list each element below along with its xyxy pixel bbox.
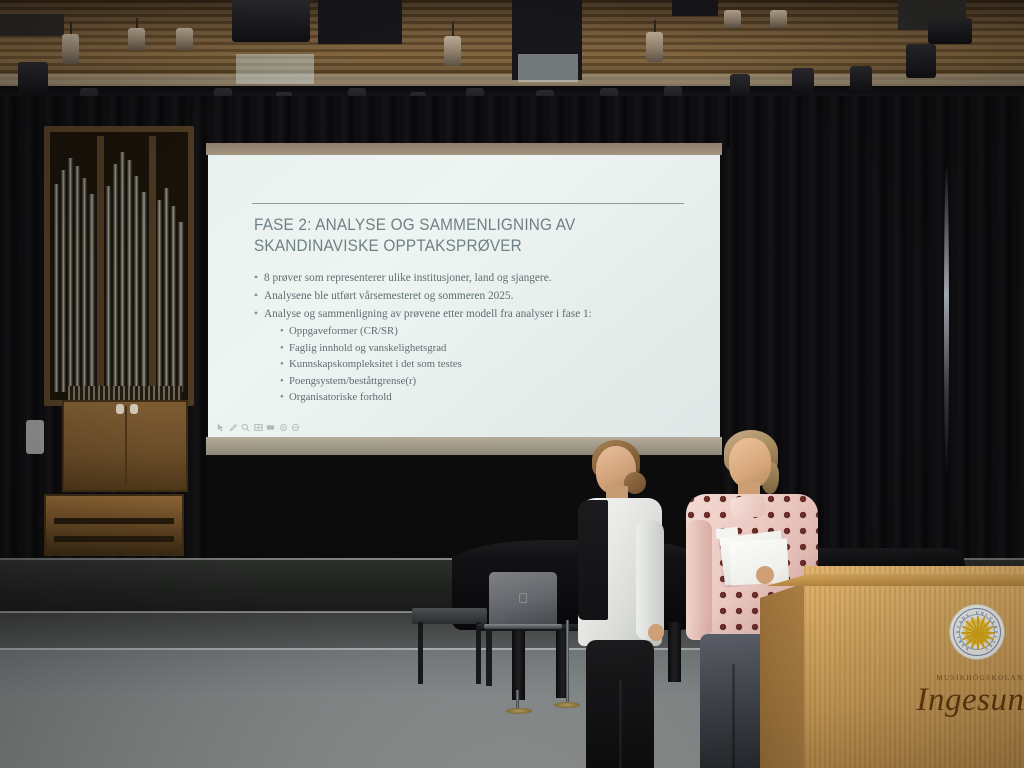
organ-lamp — [130, 404, 138, 414]
piano-leg — [512, 626, 525, 700]
projected-slide: FASE 2: ANALYSE OG SAMMENLIGNING AV SKAN… — [208, 155, 720, 437]
bullet-marker: • — [280, 356, 289, 372]
sub-bullet-text: Oppgaveformer (CR/SR) — [289, 325, 398, 337]
hand — [648, 624, 664, 641]
arm — [686, 520, 712, 638]
ceiling-acoustic-panel — [0, 14, 64, 36]
bullet-text: Analyse og sammenligning av prøvene ette… — [264, 308, 592, 320]
end-show-icon[interactable] — [291, 423, 300, 432]
bullet-text: Analysene ble utført vårsemesteret og so… — [264, 290, 513, 302]
bullet-marker: • — [254, 270, 264, 288]
arm — [636, 520, 664, 640]
more-options-icon[interactable] — [279, 423, 288, 432]
organ-pipe-area — [50, 132, 188, 400]
stage-light — [724, 10, 741, 28]
seal-text-char: T — [955, 625, 960, 629]
organ-bench — [44, 494, 184, 556]
ceiling-acoustic-panel — [672, 0, 718, 16]
seal-text-char — [970, 611, 972, 616]
slide-title: FASE 2: ANALYSE OG SAMMENLIGNING AV SKAN… — [254, 215, 645, 257]
stage-light — [176, 28, 193, 50]
bullet-marker: • — [254, 306, 264, 324]
slide-title-line-1: FASE 2: ANALYSE OG SAMMENLIGNING AV — [254, 215, 645, 236]
pipe-organ — [44, 126, 194, 406]
neck-bow — [730, 494, 767, 521]
ceiling-light-panel — [518, 54, 578, 82]
truss-light — [18, 62, 48, 96]
slide-body: •8 prøver som representerer ulike instit… — [254, 270, 684, 405]
pen-icon[interactable] — [229, 423, 238, 432]
slide-sub-bullet: •Faglig innhold og vanskelighetsgrad — [280, 340, 684, 356]
truss-light — [850, 66, 872, 92]
slide-bullet: •8 prøver som representerer ulike instit… — [254, 270, 684, 288]
pointer-icon[interactable] — [216, 423, 225, 432]
lectern-subtitle: MUSIKHÖGSKOLAN — [916, 674, 1024, 682]
bench-leg — [476, 622, 481, 684]
seal-text-char: E — [991, 620, 997, 625]
sub-bullet-text: Faglig innhold og vanskelighetsgrad — [289, 342, 446, 354]
slide-title-line-2: SKANDINAVISKE OPPTAKSPRØVER — [254, 236, 645, 257]
projection-screen: FASE 2: ANALYSE OG SAMMENLIGNING AV SKAN… — [206, 143, 722, 455]
magnifier-icon[interactable] — [241, 423, 250, 432]
laptop-base — [484, 624, 562, 629]
bullet-marker: • — [280, 340, 289, 356]
stage-curtain-top — [190, 96, 730, 148]
slide-sub-bullet: •Kunnskapskompleksitet i det som testes — [280, 356, 684, 372]
seal-text-char: S — [955, 631, 960, 633]
wall-panel — [26, 420, 44, 454]
sub-bullet-text: Organisatoriske forhold — [289, 391, 392, 403]
bullet-marker: • — [280, 389, 289, 405]
university-seal: KARLSTADS UNIVERSITET — [949, 604, 1005, 660]
grey-jeans — [700, 634, 766, 768]
truss-light — [792, 68, 814, 94]
bullet-text: 8 prøver som representerer ulike institu… — [264, 272, 552, 284]
seal-text-char: I — [993, 635, 998, 638]
slide-sub-bullet: •Poengsystem/beståttgrense(r) — [280, 373, 684, 389]
seal-text-char: A — [957, 619, 963, 624]
slide-divider-rule — [252, 203, 684, 204]
seal-text-char: S — [965, 612, 969, 617]
slide-bullet: •Analysene ble utført vårsemesteret og s… — [254, 288, 684, 306]
stage-light — [770, 10, 787, 28]
bench-leg — [418, 622, 423, 684]
bullet-marker: • — [280, 323, 289, 339]
slides-grid-icon[interactable] — [254, 423, 263, 432]
black-trousers — [586, 640, 654, 768]
stage-light — [444, 36, 461, 66]
ceiling-fixture — [232, 0, 310, 42]
slide-sub-bullet: •Oppgaveformer (CR/SR) — [280, 323, 684, 339]
seal-text-char: U — [976, 610, 979, 615]
ceiling-acoustic-panel — [318, 0, 402, 44]
truss-light — [906, 44, 936, 78]
lectern-front-panel: KARLSTADS UNIVERSITET MUSIKHÖGSKOLAN Ing… — [804, 566, 1024, 768]
bullet-marker: • — [254, 288, 264, 306]
head — [729, 438, 771, 488]
lectern-side-panel — [760, 582, 808, 768]
stage-light — [128, 28, 145, 50]
apple-logo-icon:  — [518, 591, 528, 604]
screen-bottom-edge — [206, 437, 722, 455]
presenter-toolbar[interactable] — [216, 423, 300, 432]
organ-lamp — [116, 404, 124, 414]
laptop:  — [489, 572, 557, 626]
sub-bullet-text: Kunnskapskompleksitet i det som testes — [289, 358, 462, 370]
microphone-base — [554, 702, 580, 708]
slide-sub-bullet: •Organisatoriske forhold — [280, 389, 684, 405]
bullet-marker: • — [280, 373, 289, 389]
table-leg — [486, 630, 492, 686]
blank-screen-icon[interactable] — [266, 423, 275, 432]
stage-light — [62, 34, 79, 64]
black-top — [578, 500, 608, 620]
organ-console — [62, 400, 188, 492]
lectern: KARLSTADS UNIVERSITET MUSIKHÖGSKOLAN Ing… — [760, 566, 1024, 768]
ceiling-fixture — [928, 18, 972, 44]
curtain-light-streak — [944, 160, 949, 480]
screen-top-edge — [206, 143, 722, 155]
piano-pedal-base — [506, 708, 532, 714]
microphone-stand — [566, 620, 569, 706]
lectern-top-surface — [760, 574, 1024, 586]
lectern-name: Ingesund — [904, 682, 1024, 719]
piano-leg — [668, 622, 681, 682]
seal-text-char: K — [964, 646, 969, 652]
ceiling-light-panel — [236, 54, 314, 84]
sub-bullet-text: Poengsystem/beståttgrense(r) — [289, 375, 416, 387]
sun-icon — [965, 620, 989, 644]
stage-light — [646, 32, 663, 62]
presentation-photo: FASE 2: ANALYSE OG SAMMENLIGNING AV SKAN… — [0, 0, 1024, 768]
slide-bullet: •Analyse og sammenligning av prøvene ett… — [254, 306, 684, 324]
